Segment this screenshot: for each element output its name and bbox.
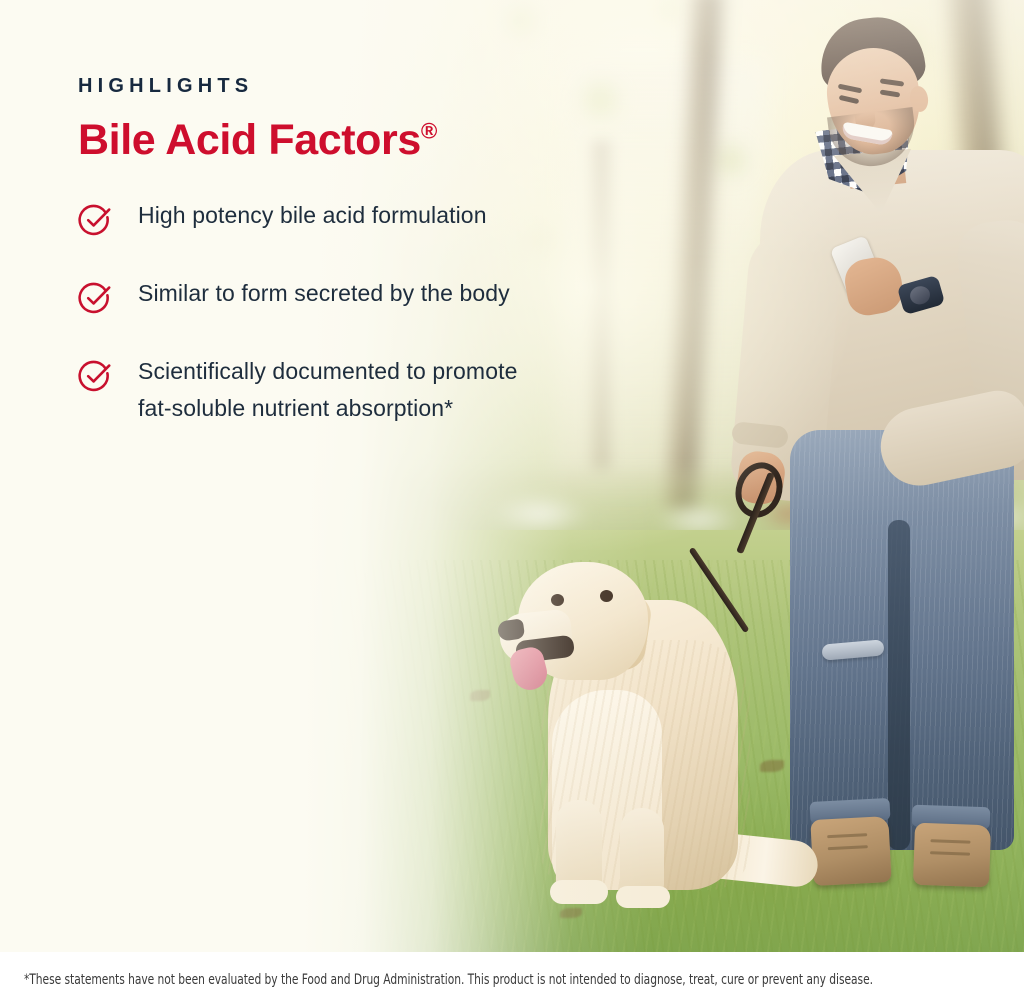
product-title: Bile Acid Factors® (78, 118, 548, 163)
registered-trademark-icon: ® (421, 119, 437, 144)
list-item: Scientifically documented to promote fat… (78, 353, 548, 428)
fda-disclaimer: *These statements have not been evaluate… (24, 972, 836, 988)
check-circle-icon (78, 281, 112, 315)
list-item: Similar to form secreted by the body (78, 275, 548, 315)
section-eyebrow: HIGHLIGHTS (78, 76, 548, 96)
list-item-label: High potency bile acid formulation (138, 197, 487, 234)
disclaimer-band: *These statements have not been evaluate… (0, 952, 1024, 1006)
highlights-panel: HIGHLIGHTS Bile Acid Factors® High poten… (0, 0, 1024, 1006)
highlights-list: High potency bile acid formulation Simil… (78, 197, 548, 428)
list-item-label: Similar to form secreted by the body (138, 275, 510, 312)
check-circle-icon (78, 203, 112, 237)
check-circle-icon (78, 359, 112, 393)
list-item: High potency bile acid formulation (78, 197, 548, 237)
list-item-label: Scientifically documented to promote fat… (138, 353, 548, 428)
product-title-text: Bile Acid Factors (78, 116, 421, 164)
highlights-content: HIGHLIGHTS Bile Acid Factors® High poten… (78, 76, 548, 428)
